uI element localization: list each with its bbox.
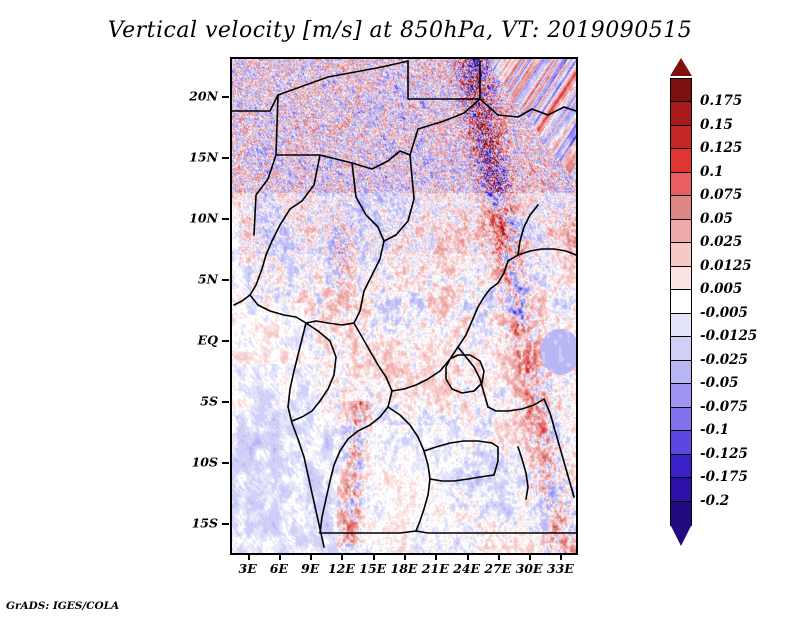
colorbar-swatch [670,501,692,526]
y-tick-mark [222,523,229,525]
colorbar-swatch [670,125,692,150]
map-plot-area [230,57,578,555]
x-tick-label: 6E [270,561,288,576]
x-tick-mark [279,554,281,560]
x-tick-mark [498,554,500,560]
y-tick-mark [222,279,229,281]
x-tick-mark [341,554,343,560]
y-tick-label: 15S [192,515,218,530]
colorbar-tick-label: 0.125 [700,140,742,156]
y-tick-mark [222,96,229,98]
y-tick-label: 10N [189,210,218,225]
x-tick-mark [435,554,437,560]
colorbar-tick-label: -0.175 [700,469,748,485]
x-tick-label: 3E [239,561,257,576]
colorbar-swatch [670,148,692,173]
colorbar-tick-label: -0.0125 [700,328,757,344]
colorbar-tick-label: 0.0125 [700,258,752,274]
colorbar-swatch [670,360,692,385]
colorbar-tick-label: 0.1 [700,164,724,180]
colorbar-tick-label: 0.005 [700,281,742,297]
x-tick-mark [373,554,375,560]
x-tick-mark [248,554,250,560]
colorbar-swatch [670,477,692,502]
y-tick-mark [222,462,229,464]
y-tick-label: 5S [200,393,218,408]
x-tick-label: 9E [301,561,319,576]
y-tick-mark [222,157,229,159]
x-tick-label: 18E [391,561,418,576]
x-tick-mark [560,554,562,560]
y-tick-label: 5N [198,271,218,286]
colorbar-swatch [670,336,692,361]
y-tick-label: 20N [189,88,218,103]
colorbar-tick-label: 0.15 [700,117,733,133]
colorbar-tick-label: 0.075 [700,187,742,203]
colorbar-swatch [670,407,692,432]
country-borders-overlay [232,59,576,553]
colorbar-swatch [670,101,692,126]
colorbar-tick-label: -0.2 [700,493,729,509]
grads-credit: GrADS: IGES/COLA [6,600,119,612]
colorbar-swatch [670,219,692,244]
colorbar-tick-label: -0.005 [700,305,748,321]
colorbar-swatch [670,266,692,291]
x-tick-label: 27E [484,561,511,576]
colorbar-swatch [670,289,692,314]
x-tick-label: 30E [516,561,543,576]
colorbar-arrow-down [670,524,692,546]
x-tick-mark [404,554,406,560]
colorbar-tick-label: -0.025 [700,352,748,368]
y-tick-label: 15N [189,149,218,164]
colorbar-tick-label: 0.025 [700,234,742,250]
colorbar-tick-label: -0.1 [700,422,729,438]
colorbar-tick-label: 0.175 [700,93,742,109]
colorbar-tick-label: -0.05 [700,375,738,391]
colorbar-tick-label: 0.05 [700,211,733,227]
colorbar-swatch [670,195,692,220]
x-tick-mark [310,554,312,560]
page-title: Vertical velocity [m/s] at 850hPa, VT: 2… [0,18,800,43]
x-tick-label: 12E [328,561,355,576]
colorbar-swatch [670,242,692,267]
y-tick-mark [222,340,229,342]
x-tick-label: 33E [547,561,574,576]
x-tick-label: 15E [359,561,386,576]
colorbar-arrow-up [670,58,692,76]
x-tick-mark [467,554,469,560]
colorbar-tick-label: -0.125 [700,446,748,462]
colorbar-tick-label: -0.075 [700,399,748,415]
grads-chart-page: Vertical velocity [m/s] at 850hPa, VT: 2… [0,0,800,618]
colorbar-swatch [670,78,692,103]
colorbar [670,60,692,560]
y-tick-mark [222,218,229,220]
colorbar-swatch [670,383,692,408]
colorbar-swatch [670,454,692,479]
x-tick-label: 21E [422,561,449,576]
colorbar-swatch [670,313,692,338]
x-tick-label: 24E [453,561,480,576]
y-tick-mark [222,401,229,403]
y-tick-label: 10S [192,454,218,469]
colorbar-swatch [670,430,692,455]
y-tick-label: EQ [198,332,218,347]
colorbar-swatch [670,172,692,197]
x-tick-mark [529,554,531,560]
